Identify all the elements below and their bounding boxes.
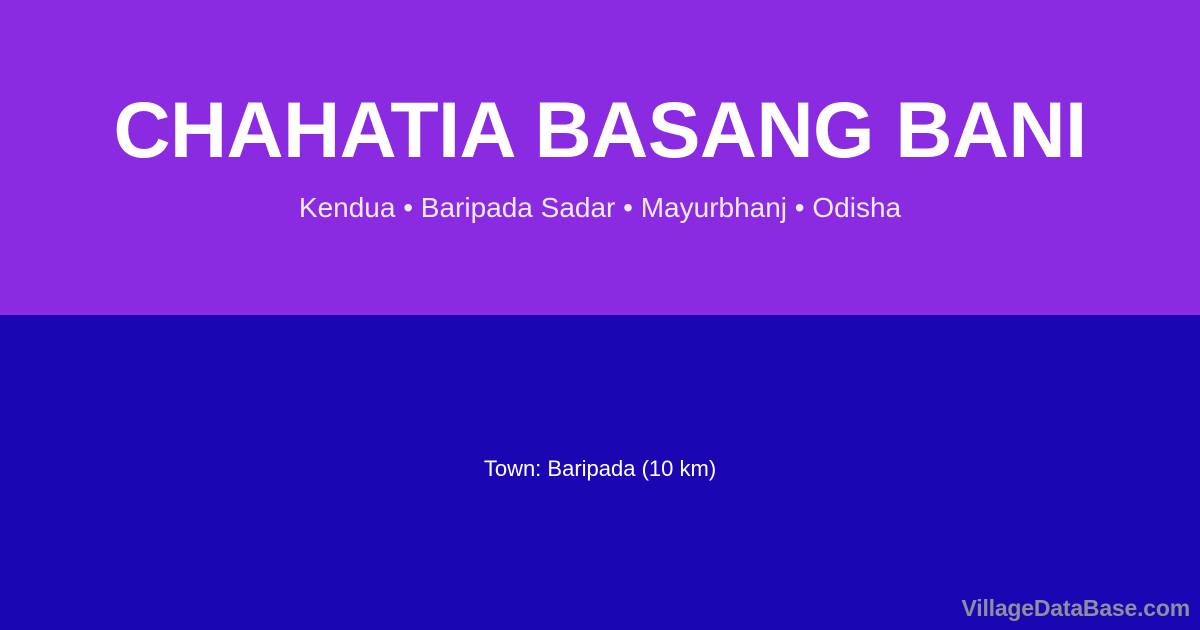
site-watermark: VillageDataBase.com <box>962 597 1190 620</box>
breadcrumb: Kendua • Baripada Sadar • Mayurbhanj • O… <box>299 191 901 225</box>
page-title: CHAHATIA BASANG BANI <box>113 90 1086 169</box>
card-body-band: Town: Baripada (10 km) <box>0 315 1200 630</box>
nearest-town-fact: Town: Baripada (10 km) <box>484 454 716 484</box>
village-info-card: CHAHATIA BASANG BANI Kendua • Baripada S… <box>0 0 1200 630</box>
fact-list: Town: Baripada (10 km) <box>0 315 1200 630</box>
card-header-band: CHAHATIA BASANG BANI Kendua • Baripada S… <box>0 0 1200 315</box>
